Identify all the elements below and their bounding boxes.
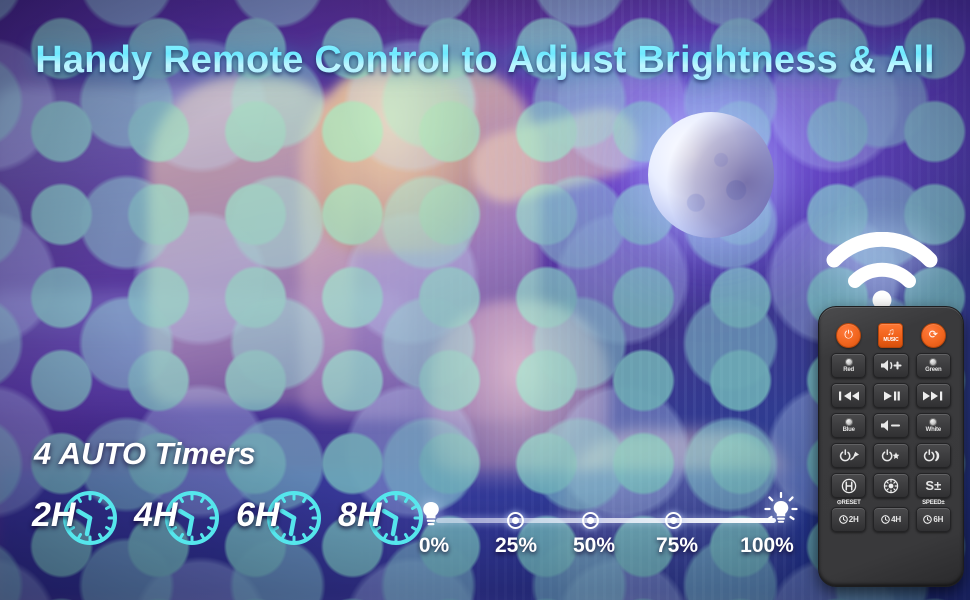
slider-tick-label-0: 0% — [419, 534, 449, 558]
remote-cell — [873, 473, 908, 498]
remote-cell: ⊙RESET — [831, 473, 866, 498]
slider-handle-50[interactable] — [582, 512, 599, 529]
page-title: Handy Remote Control to Adjust Brightnes… — [0, 39, 970, 82]
remote-cell — [873, 353, 908, 378]
slider-tick-label-100: 100% — [740, 534, 794, 558]
timer-clock-icon: 6H — [923, 515, 943, 524]
red-color-button[interactable]: Red — [831, 353, 866, 378]
volume-up-icon — [880, 359, 902, 372]
power-icon: ⏻ — [844, 330, 853, 341]
crescent-moon-icon — [648, 112, 774, 238]
promo-banner: Handy Remote Control to Adjust Brightnes… — [0, 0, 970, 600]
timer-label: 2H — [32, 496, 75, 535]
speed-symbol: S± — [925, 479, 941, 492]
remote-cell: ♫ MUSIC — [873, 323, 908, 348]
remote-cell: White — [916, 413, 951, 438]
remote-cell: Green — [916, 353, 951, 378]
slider-tick-label-75: 75% — [656, 534, 698, 558]
next-track-button[interactable] — [916, 383, 951, 408]
volume-down-button[interactable] — [873, 413, 908, 438]
remote-cell — [873, 383, 908, 408]
led-dot-icon — [929, 418, 937, 426]
remote-cell: 6H — [916, 507, 951, 532]
play-pause-icon — [880, 390, 902, 402]
moon-light-power-button[interactable] — [916, 443, 951, 468]
bulb-on-icon — [764, 492, 798, 528]
timer-label: 4H — [134, 496, 177, 535]
remote-cell — [831, 383, 866, 408]
timer-item-2h: 2H — [30, 482, 126, 556]
color-cycle-button[interactable]: ⟳ — [921, 323, 946, 348]
wifi-signal-icon — [824, 232, 940, 310]
blue-button-label: Blue — [843, 427, 855, 433]
remote-cell — [873, 413, 908, 438]
brightness-button[interactable] — [873, 473, 908, 498]
remote-cell — [916, 443, 951, 468]
green-color-button[interactable]: Green — [916, 353, 951, 378]
remote-cell — [873, 443, 908, 468]
reset-button[interactable] — [831, 473, 866, 498]
timer-clock-icon: 4H — [881, 515, 901, 524]
timer-4h-button[interactable]: 4H — [873, 507, 908, 532]
slider-tick-label-25: 25% — [495, 534, 537, 558]
timers-list: 2H — [30, 482, 432, 556]
timer-label: 8H — [338, 496, 381, 535]
timer-item-6h: 6H — [234, 482, 330, 556]
remote-cell — [916, 383, 951, 408]
white-button-label: White — [926, 427, 941, 433]
star-laser-power-button[interactable] — [873, 443, 908, 468]
remote-button-grid: ⏻ ♫ MUSIC ⟳ Red — [831, 323, 951, 532]
slider-handle-75[interactable] — [665, 512, 682, 529]
power-star-icon — [879, 449, 903, 463]
slider-tick-label-50: 50% — [573, 534, 615, 558]
power-button[interactable]: ⏻ — [836, 323, 861, 348]
speed-button[interactable]: S± — [916, 473, 951, 498]
music-button-label: MUSIC — [883, 338, 898, 343]
led-dot-icon — [929, 358, 937, 366]
red-button-label: Red — [843, 367, 854, 373]
bulb-off-icon — [420, 500, 442, 528]
next-track-icon — [921, 390, 945, 402]
timer-6h-button[interactable]: 6H — [916, 507, 951, 532]
timer-2h-label: 2H — [849, 516, 859, 524]
slider-handle-25[interactable] — [507, 512, 524, 529]
reset-button-label: ⊙RESET — [831, 499, 866, 506]
brightness-sun-icon — [883, 478, 899, 494]
power-nebula-icon — [837, 449, 861, 463]
remote-cell: Red — [831, 353, 866, 378]
remote-control[interactable]: ⏻ ♫ MUSIC ⟳ Red — [818, 306, 964, 587]
timer-label: 6H — [236, 496, 279, 535]
volume-down-icon — [880, 419, 902, 432]
timer-2h-button[interactable]: 2H — [831, 507, 866, 532]
green-button-label: Green — [925, 367, 941, 373]
previous-track-button[interactable] — [831, 383, 866, 408]
remote-cell: S± SPEED± — [916, 473, 951, 498]
previous-track-icon — [837, 390, 861, 402]
blue-color-button[interactable]: Blue — [831, 413, 866, 438]
timer-4h-label: 4H — [891, 516, 901, 524]
remote-cell: 2H — [831, 507, 866, 532]
timers-heading: 4 AUTO Timers — [34, 436, 256, 472]
nebula-light-power-button[interactable] — [831, 443, 866, 468]
refresh-cycle-icon: ⟳ — [929, 330, 938, 341]
play-pause-button[interactable] — [873, 383, 908, 408]
reset-h-icon — [841, 478, 857, 494]
volume-up-button[interactable] — [873, 353, 908, 378]
slider-track[interactable] — [436, 518, 776, 523]
remote-cell — [831, 443, 866, 468]
remote-cell: ⟳ — [916, 323, 951, 348]
music-button[interactable]: ♫ MUSIC — [878, 323, 903, 348]
timer-6h-label: 6H — [933, 516, 943, 524]
remote-cell: 4H — [873, 507, 908, 532]
led-dot-icon — [845, 418, 853, 426]
remote-cell: Blue — [831, 413, 866, 438]
brightness-slider[interactable]: 0% 25% 50% 75% 100% — [412, 488, 802, 560]
speed-button-label: SPEED± — [916, 500, 951, 506]
timer-item-4h: 4H — [132, 482, 228, 556]
led-dot-icon — [845, 358, 853, 366]
timer-clock-icon: 2H — [839, 515, 859, 524]
white-color-button[interactable]: White — [916, 413, 951, 438]
remote-cell: ⏻ — [831, 323, 866, 348]
power-moon-icon — [921, 449, 945, 463]
